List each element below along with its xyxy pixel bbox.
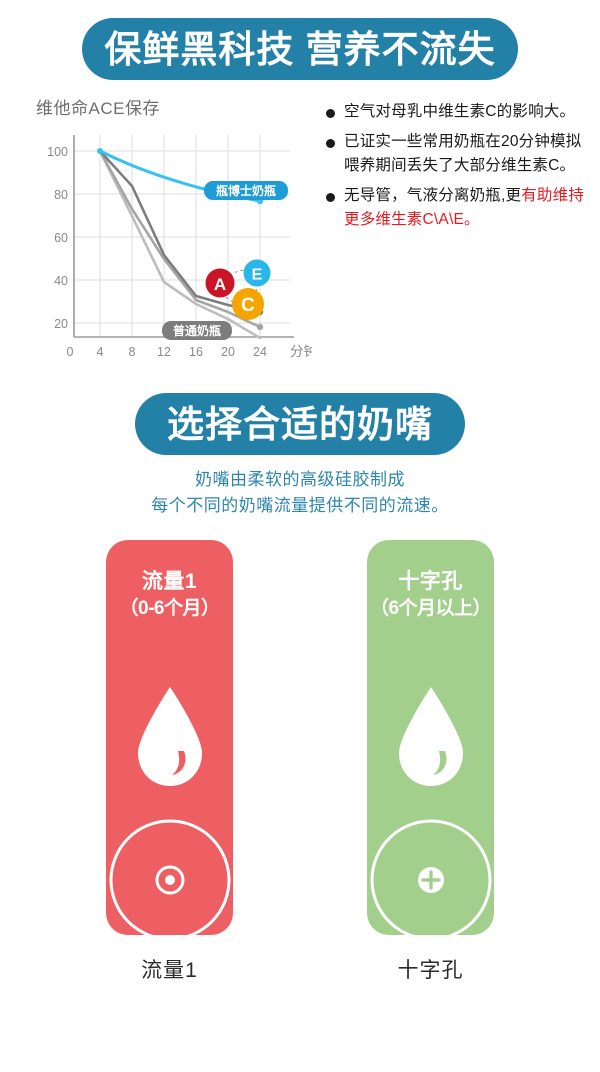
chart-y-ticklabels: 100 80 60 40 20 — [47, 145, 68, 331]
x-tick-0: 0 — [67, 345, 74, 359]
mid-banner-row: 选择合适的奶嘴 — [0, 393, 600, 455]
bullet-text-2: 已证实一些常用奶瓶在20分钟模拟喂养期间丢失了大部分维生素C。 — [344, 130, 590, 178]
bullet-text-1: 空气对母乳中维生素C的影响大。 — [344, 100, 575, 124]
bullet-dot-icon — [326, 109, 335, 118]
y-tick-100: 100 — [47, 145, 68, 159]
vitamin-bullet-list: 空气对母乳中维生素C的影响大。 已证实一些常用奶瓶在20分钟模拟喂养期间丢失了大… — [314, 94, 590, 365]
vitamin-badge-a-label: A — [214, 275, 226, 294]
chart-point-ordinary-b-end — [257, 324, 263, 330]
y-tick-20: 20 — [54, 317, 68, 331]
nipple-card-cross-title: 十字孔 — [367, 568, 494, 596]
chart-title: 维他命ACE保存 — [36, 94, 314, 119]
vitamin-badge-c-label: C — [241, 295, 255, 316]
vitamin-retention-chart: 100 80 60 40 20 0 4 8 12 16 20 24 分钟 — [22, 125, 312, 365]
bullet-text-3: 无导管，气液分离奶瓶,更有助维持更多维生素C\A\E。 — [344, 184, 590, 232]
nipple-subtitle-line2: 每个不同的奶嘴流量提供不同的流速。 — [0, 493, 600, 519]
single-round-hole-icon — [106, 816, 233, 935]
x-tick-4: 4 — [97, 345, 104, 359]
nipple-subtitle: 奶嘴由柔软的高级硅胶制成 每个不同的奶嘴流量提供不同的流速。 — [0, 467, 600, 520]
nipple-caption-flow1: 流量1 — [106, 954, 233, 984]
bullet-item: 无导管，气液分离奶瓶,更有助维持更多维生素C\A\E。 — [326, 184, 590, 232]
nipple-card-flow1-title: 流量1 — [106, 568, 233, 596]
chart-legend-ordinary-bottle: 普通奶瓶 — [162, 321, 232, 340]
nipple-card-flow1-age: （0-6个月） — [106, 596, 233, 622]
bullet-dot-icon — [326, 139, 335, 148]
nipple-caption-row: 流量1 十字孔 — [0, 954, 600, 994]
vitamin-badge-a: A — [206, 269, 235, 298]
nipple-card-cross-age: （6个月以上） — [367, 596, 494, 622]
chart-x-ticklabels: 0 4 8 12 16 20 24 — [67, 345, 267, 359]
bullet-item: 已证实一些常用奶瓶在20分钟模拟喂养期间丢失了大部分维生素C。 — [326, 130, 590, 178]
vitamin-badge-e: E — [244, 260, 271, 287]
x-tick-20: 20 — [221, 345, 235, 359]
headline-banner-preservation: 保鲜黑科技 营养不流失 — [82, 18, 518, 80]
y-tick-40: 40 — [54, 274, 68, 288]
chart-legend-dr-bottle-label: 瓶博士奶瓶 — [216, 183, 276, 198]
bullet-text-3-pre: 无导管，气液分离奶瓶,更 — [344, 187, 521, 204]
chart-svg: 100 80 60 40 20 0 4 8 12 16 20 24 分钟 — [22, 125, 312, 365]
top-banner-row: 保鲜黑科技 营养不流失 — [0, 0, 600, 80]
nipple-subtitle-line1: 奶嘴由柔软的高级硅胶制成 — [0, 467, 600, 493]
nipple-caption-cross: 十字孔 — [367, 954, 494, 984]
chart-line-ordinary-a — [100, 151, 260, 312]
bullet-text-3-post: 。 — [464, 211, 480, 228]
chart-point-start — [97, 148, 103, 154]
headline-banner-choose-nipple: 选择合适的奶嘴 — [135, 393, 465, 455]
x-tick-12: 12 — [157, 345, 171, 359]
y-tick-60: 60 — [54, 231, 68, 245]
chart-legend-ordinary-bottle-label: 普通奶瓶 — [173, 323, 221, 338]
vitamin-badge-e-label: E — [252, 267, 263, 284]
bullet-item: 空气对母乳中维生素C的影响大。 — [326, 100, 590, 124]
cross-hole-icon — [367, 816, 494, 935]
nipple-card-cross[interactable]: 十字孔 （6个月以上） — [367, 540, 494, 935]
chart-legend-dr-bottle: 瓶博士奶瓶 — [204, 181, 288, 200]
x-tick-24: 24 — [253, 345, 267, 359]
x-tick-16: 16 — [189, 345, 203, 359]
nipple-card-flow1[interactable]: 流量1 （0-6个月） — [106, 540, 233, 935]
water-drop-icon — [393, 685, 469, 789]
bullet-dot-icon — [326, 193, 335, 202]
x-tick-8: 8 — [129, 345, 136, 359]
vitamin-info-section: 维他命ACE保存 — [0, 94, 600, 365]
water-drop-icon — [132, 685, 208, 789]
chart-x-axis-label: 分钟 — [290, 343, 312, 359]
vitamin-badge-c: C — [232, 288, 264, 320]
nipple-card-row: 流量1 （0-6个月） 十字孔 （6个月以上） — [0, 540, 600, 940]
y-tick-80: 80 — [54, 188, 68, 202]
vitamin-chart-block: 维他命ACE保存 — [22, 94, 314, 365]
